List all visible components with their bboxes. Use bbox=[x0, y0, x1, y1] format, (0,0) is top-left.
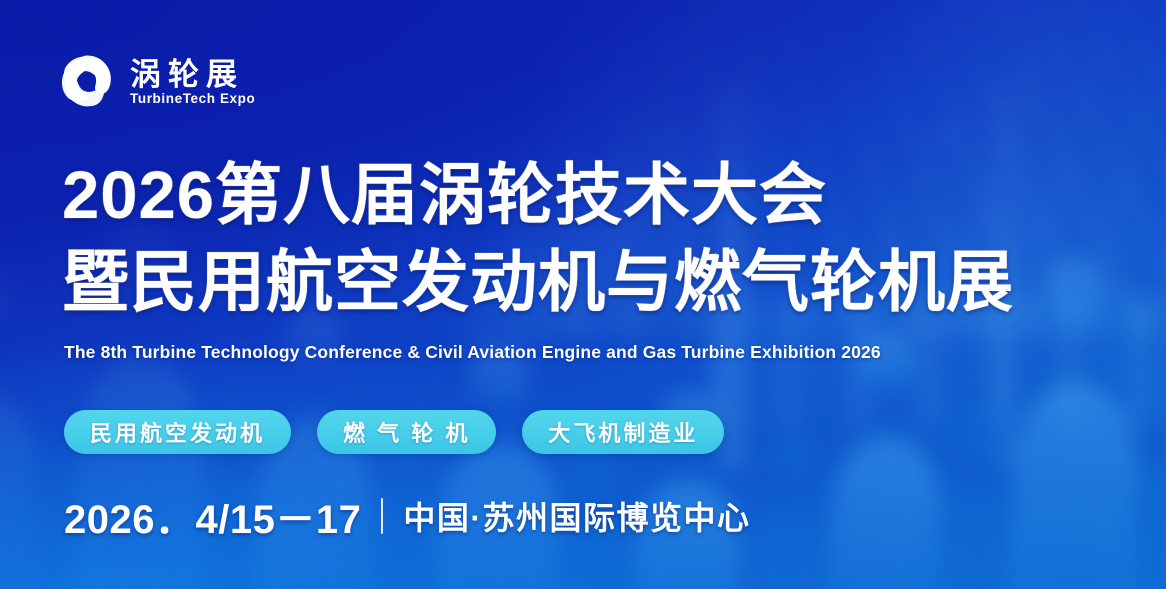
headline-line-2: 暨民用航空发动机与燃气轮机展 bbox=[62, 239, 1122, 326]
topic-pill-label: 民用航空发动机 bbox=[90, 416, 265, 448]
headline-line-1: 2026第八届涡轮技术大会 bbox=[62, 152, 1122, 239]
topic-pill-label: 燃 气 轮 机 bbox=[343, 416, 470, 448]
banner-content: 涡轮展 TurbineTech Expo 2026第八届涡轮技术大会 暨民用航空… bbox=[0, 0, 1166, 589]
topic-pill-label: 大飞机制造业 bbox=[548, 416, 698, 448]
brand-name-en: TurbineTech Expo bbox=[130, 92, 255, 106]
brand-name-cn: 涡轮展 bbox=[130, 59, 255, 90]
event-banner: 涡轮展 TurbineTech Expo 2026第八届涡轮技术大会 暨民用航空… bbox=[0, 0, 1166, 589]
detail-divider bbox=[381, 498, 383, 534]
subtitle-english: The 8th Turbine Technology Conference & … bbox=[64, 342, 881, 363]
turbine-swirl-icon bbox=[58, 52, 116, 110]
brand-logo-text: 涡轮展 TurbineTech Expo bbox=[130, 57, 255, 106]
topic-pill-row: 民用航空发动机 燃 气 轮 机 大飞机制造业 bbox=[64, 410, 724, 454]
topic-pill-civil-aviation-engine[interactable]: 民用航空发动机 bbox=[64, 410, 291, 454]
topic-pill-large-aircraft-manufacturing[interactable]: 大飞机制造业 bbox=[522, 410, 724, 454]
event-venue: 中国·苏州国际博览中心 bbox=[403, 493, 750, 539]
event-date: 2026．4/15－17 bbox=[64, 487, 361, 545]
topic-pill-gas-turbine[interactable]: 燃 气 轮 机 bbox=[317, 410, 496, 454]
event-details: 2026．4/15－17 中国·苏州国际博览中心 bbox=[64, 487, 751, 545]
headline: 2026第八届涡轮技术大会 暨民用航空发动机与燃气轮机展 bbox=[62, 152, 1122, 326]
brand-logo: 涡轮展 TurbineTech Expo bbox=[58, 52, 255, 110]
